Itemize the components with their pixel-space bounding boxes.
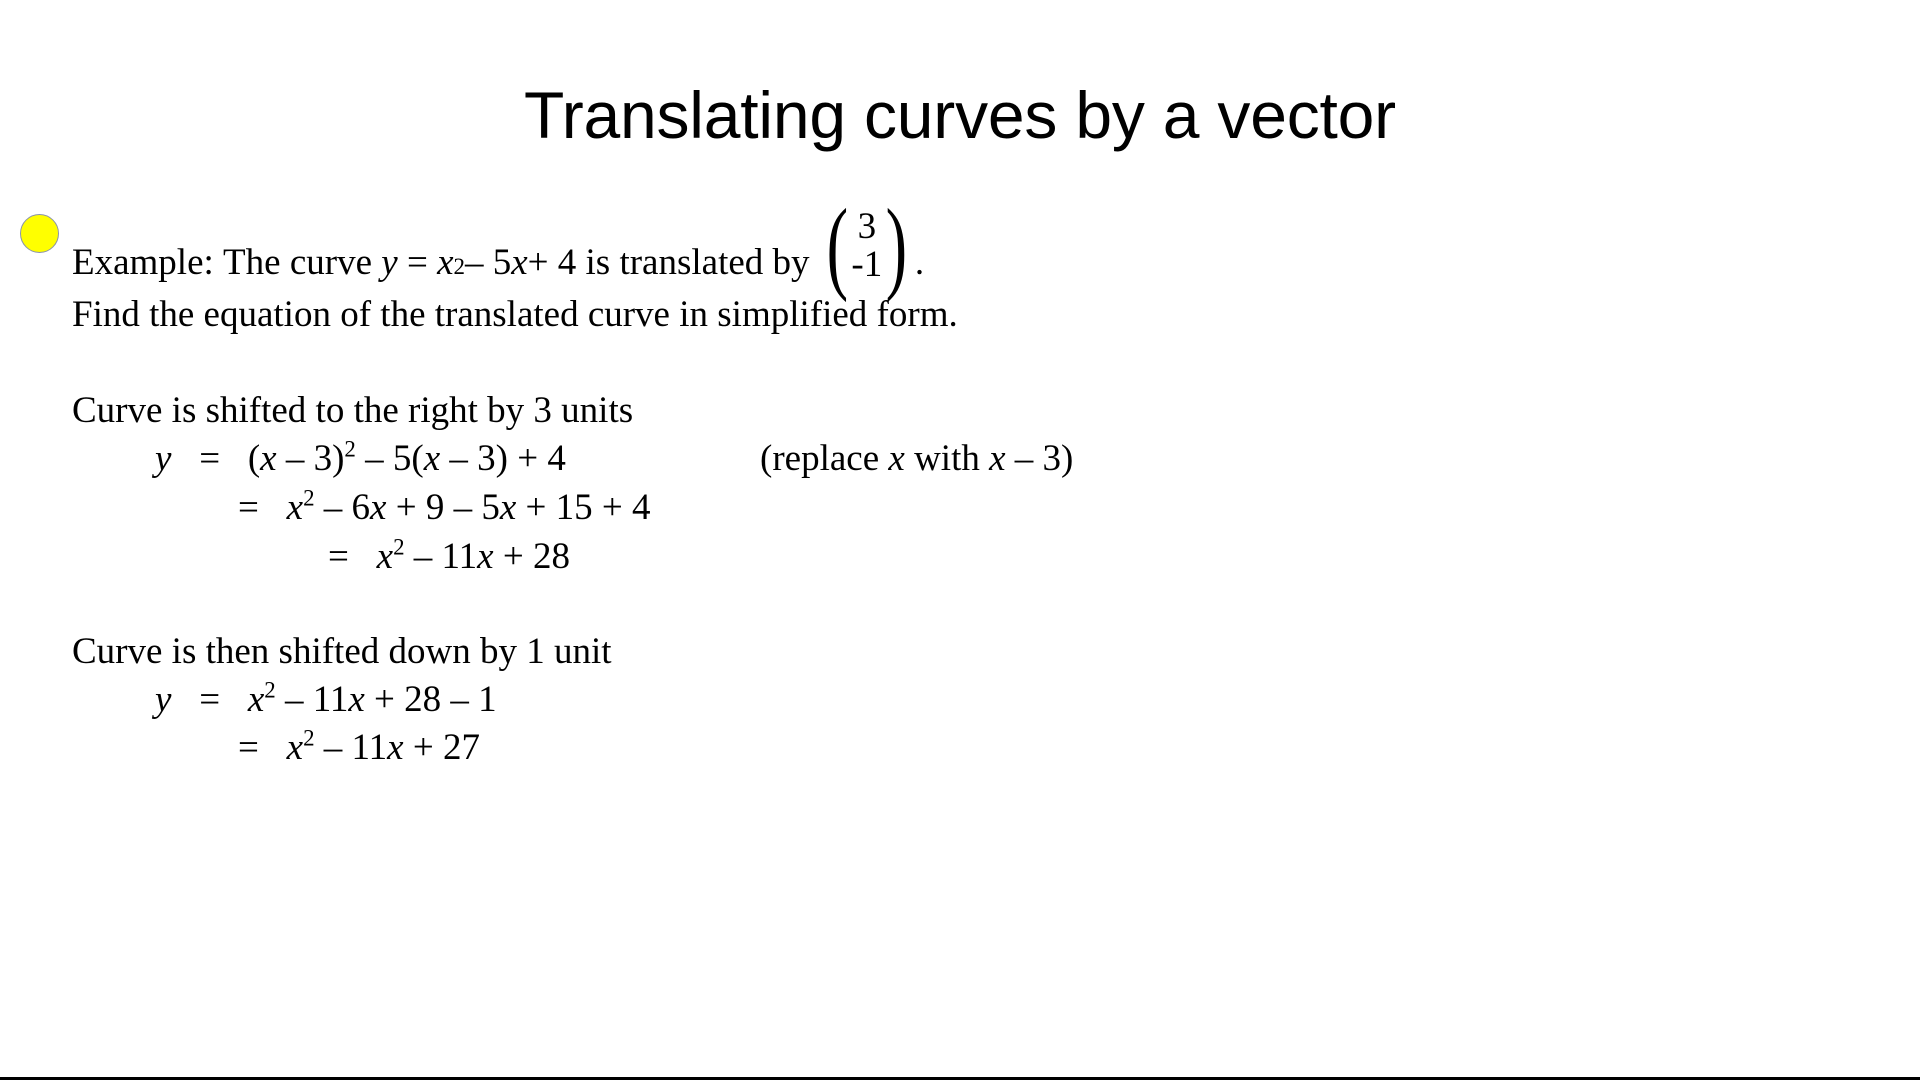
slide-title: Translating curves by a vector xyxy=(0,82,1920,148)
step2-eq1-end: + 28 – 1 xyxy=(365,679,497,720)
instruction-line: Find the equation of the translated curv… xyxy=(72,296,958,333)
step1-eq2-mid: – 6 xyxy=(315,487,371,528)
column-vector: ( 3 -1 ) xyxy=(820,208,914,283)
step2-equation-1: y = x2 – 11x + 28 – 1 xyxy=(155,681,497,718)
step1-eq1-equals: = xyxy=(199,438,220,479)
slide-canvas: Translating curves by a vector Example: … xyxy=(0,0,1920,1080)
note-end: – 3) xyxy=(1006,438,1074,479)
step1-eq1-open: ( xyxy=(248,438,260,479)
step2-eq2-x2: x xyxy=(387,727,403,768)
step1-eq1-mid: – 3) xyxy=(277,438,345,479)
vector-right-paren: ) xyxy=(886,214,907,278)
step1-equation-2: = x2 – 6x + 9 – 5x + 15 + 4 xyxy=(238,489,651,526)
yellow-circle-bullet-icon xyxy=(20,214,59,253)
vector-left-paren: ( xyxy=(826,214,847,278)
example-lead-text: The curve xyxy=(223,244,372,281)
step1-heading-text: Curve is shifted to the right by 3 units xyxy=(72,390,633,431)
step2-eq1-sup: 2 xyxy=(264,678,275,703)
example-y-var: y xyxy=(381,244,397,281)
step1-eq3-mid: – 11 xyxy=(405,536,478,577)
example-equals: = xyxy=(407,244,428,281)
step1-eq2-sup: 2 xyxy=(303,486,314,511)
step2-eq2-sup: 2 xyxy=(303,726,314,751)
example-x-var-2: x xyxy=(511,244,527,281)
step2-eq1-x1: x xyxy=(248,679,264,720)
vector-top-value: 3 xyxy=(858,208,877,246)
step1-eq3-x1: x xyxy=(377,536,393,577)
example-expr-rest: – 5 xyxy=(465,244,511,281)
step1-eq1-x1: x xyxy=(260,438,276,479)
step1-eq2-mid2: + 9 – 5 xyxy=(386,487,499,528)
step1-eq2-x2: x xyxy=(370,487,386,528)
step1-eq1-x2: x xyxy=(424,438,440,479)
step1-eq2-x3: x xyxy=(500,487,516,528)
step1-eq3-equals: = xyxy=(328,536,349,577)
step2-eq2-end: + 27 xyxy=(404,727,480,768)
step1-eq2-end: + 15 + 4 xyxy=(516,487,650,528)
step1-eq3-x2: x xyxy=(477,536,493,577)
step2-eq1-equals: = xyxy=(199,679,220,720)
example-label: Example: xyxy=(72,244,214,281)
step2-eq1-mid: – 11 xyxy=(276,679,349,720)
step1-replace-note: (replace x with x – 3) xyxy=(760,440,1073,477)
step1-heading: Curve is shifted to the right by 3 units xyxy=(72,392,633,429)
step2-eq2-x1: x xyxy=(287,727,303,768)
step2-eq2-mid: – 11 xyxy=(315,727,388,768)
example-expr-tail: + 4 is translated by xyxy=(528,244,810,281)
step1-eq1-end: – 3) + 4 xyxy=(440,438,566,479)
note-x1: x xyxy=(888,438,904,479)
example-x-var: x xyxy=(437,244,453,281)
step2-equation-2: = x2 – 11x + 27 xyxy=(238,729,480,766)
slide-body: Example: The curve y = x2 – 5x + 4 is tr… xyxy=(0,196,1920,260)
note-open: (replace xyxy=(760,438,888,479)
step1-eq1-sup: 2 xyxy=(344,437,355,462)
note-x2: x xyxy=(989,438,1005,479)
vector-bottom-value: -1 xyxy=(851,246,882,284)
example-trailing-period: . xyxy=(915,244,924,281)
step1-eq2-equals: = xyxy=(238,487,259,528)
example-bullet-row: Example: The curve y = x2 – 5x + 4 is tr… xyxy=(0,196,1920,260)
step1-eq1-after: – 5( xyxy=(356,438,424,479)
step2-heading-text: Curve is then shifted down by 1 unit xyxy=(72,631,612,672)
step1-equation-1: y = (x – 3)2 – 5(x – 3) + 4 xyxy=(155,440,566,477)
step2-heading: Curve is then shifted down by 1 unit xyxy=(72,633,612,670)
note-mid: with xyxy=(905,438,989,479)
step1-equation-3: = x2 – 11x + 28 xyxy=(328,538,570,575)
example-statement: Example: The curve y = x2 – 5x + 4 is tr… xyxy=(72,202,924,281)
step2-eq1-x2: x xyxy=(348,679,364,720)
step1-eq2-x1: x xyxy=(287,487,303,528)
step1-eq3-end: + 28 xyxy=(494,536,570,577)
step2-eq2-equals: = xyxy=(238,727,259,768)
vector-entries: 3 -1 xyxy=(851,208,882,283)
step2-eq1-y: y xyxy=(155,679,171,720)
step1-eq1-y: y xyxy=(155,438,171,479)
step1-eq3-sup: 2 xyxy=(393,535,404,560)
instruction-text: Find the equation of the translated curv… xyxy=(72,294,958,335)
